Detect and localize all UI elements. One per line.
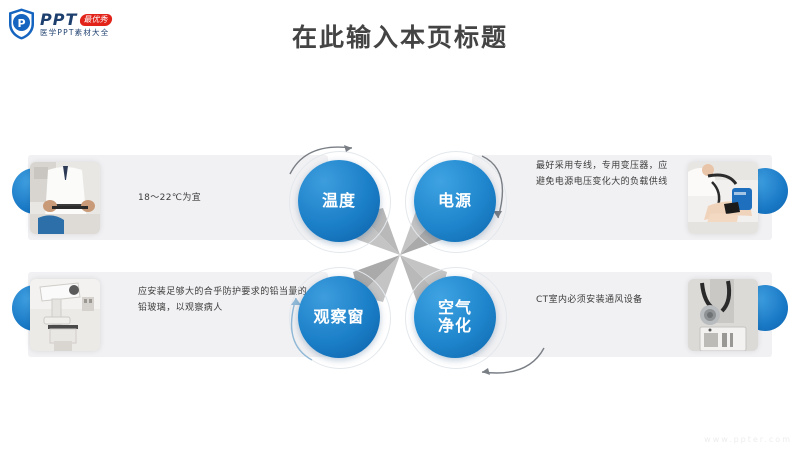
node-circle-temperature[interactable]: 温度 [298, 160, 380, 242]
blood-pressure-cuff-photo [688, 162, 758, 234]
node-text-temperature: 18～22℃为宜 [138, 190, 313, 206]
stethoscope-monitor-photo [688, 279, 758, 351]
node-label-power-supply: 电源 [438, 192, 472, 210]
node-text-air-purification: CT室内必须安装通风设备 [536, 292, 686, 308]
node-circle-observation-window[interactable]: 观察窗 [298, 276, 380, 358]
node-circle-air-purification[interactable]: 空气 净化 [414, 276, 496, 358]
node-label-air-purification: 空气 净化 [438, 299, 472, 335]
node-label-temperature: 温度 [322, 192, 356, 210]
node-text-power-supply: 最好采用专线，专用变压器，应避免电源电压变化大的负载供线 [536, 158, 676, 190]
node-circle-power-supply[interactable]: 电源 [414, 160, 496, 242]
radiology-machine-photo [30, 279, 100, 351]
node-label-air-purification-line2: 净化 [438, 316, 472, 335]
page-title: 在此输入本页标题 [0, 18, 800, 54]
node-label-air-purification-line1: 空气 [438, 298, 472, 317]
node-label-observation-window: 观察窗 [313, 308, 364, 326]
site-watermark: www.ppter.com [704, 435, 792, 444]
doctor-with-clipboard-photo [30, 162, 100, 234]
curved-arrow-left-icon [470, 344, 550, 388]
